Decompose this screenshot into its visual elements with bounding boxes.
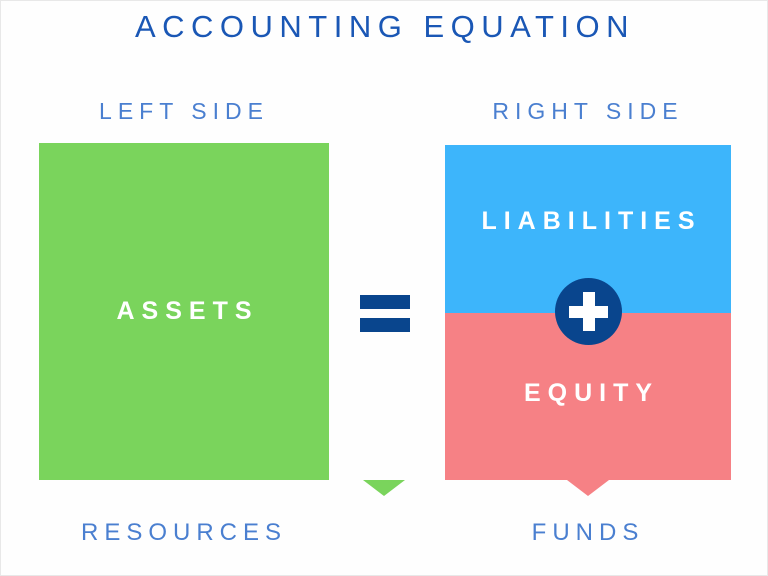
accounting-equation-infographic: ACCOUNTING EQUATION LEFT SIDE RIGHT SIDE… [0, 0, 768, 576]
equity-label: EQUITY [445, 379, 731, 408]
funds-caption: FUNDS [445, 519, 731, 547]
funds-pointer-triangle-icon [567, 480, 609, 496]
plus-horizontal-stroke [569, 306, 608, 318]
assets-pointer-triangle-icon [363, 480, 405, 496]
equals-sign-icon [360, 295, 410, 332]
equals-bar-top [360, 295, 410, 309]
assets-block: ASSETS [39, 143, 329, 480]
liabilities-label: LIABILITIES [445, 207, 731, 236]
resources-caption: RESOURCES [39, 519, 329, 547]
right-side-heading: RIGHT SIDE [445, 98, 731, 125]
plus-icon [555, 278, 622, 345]
page-title: ACCOUNTING EQUATION [1, 9, 768, 45]
left-side-heading: LEFT SIDE [39, 98, 329, 125]
assets-label: ASSETS [39, 143, 329, 480]
equals-bar-bottom [360, 318, 410, 332]
